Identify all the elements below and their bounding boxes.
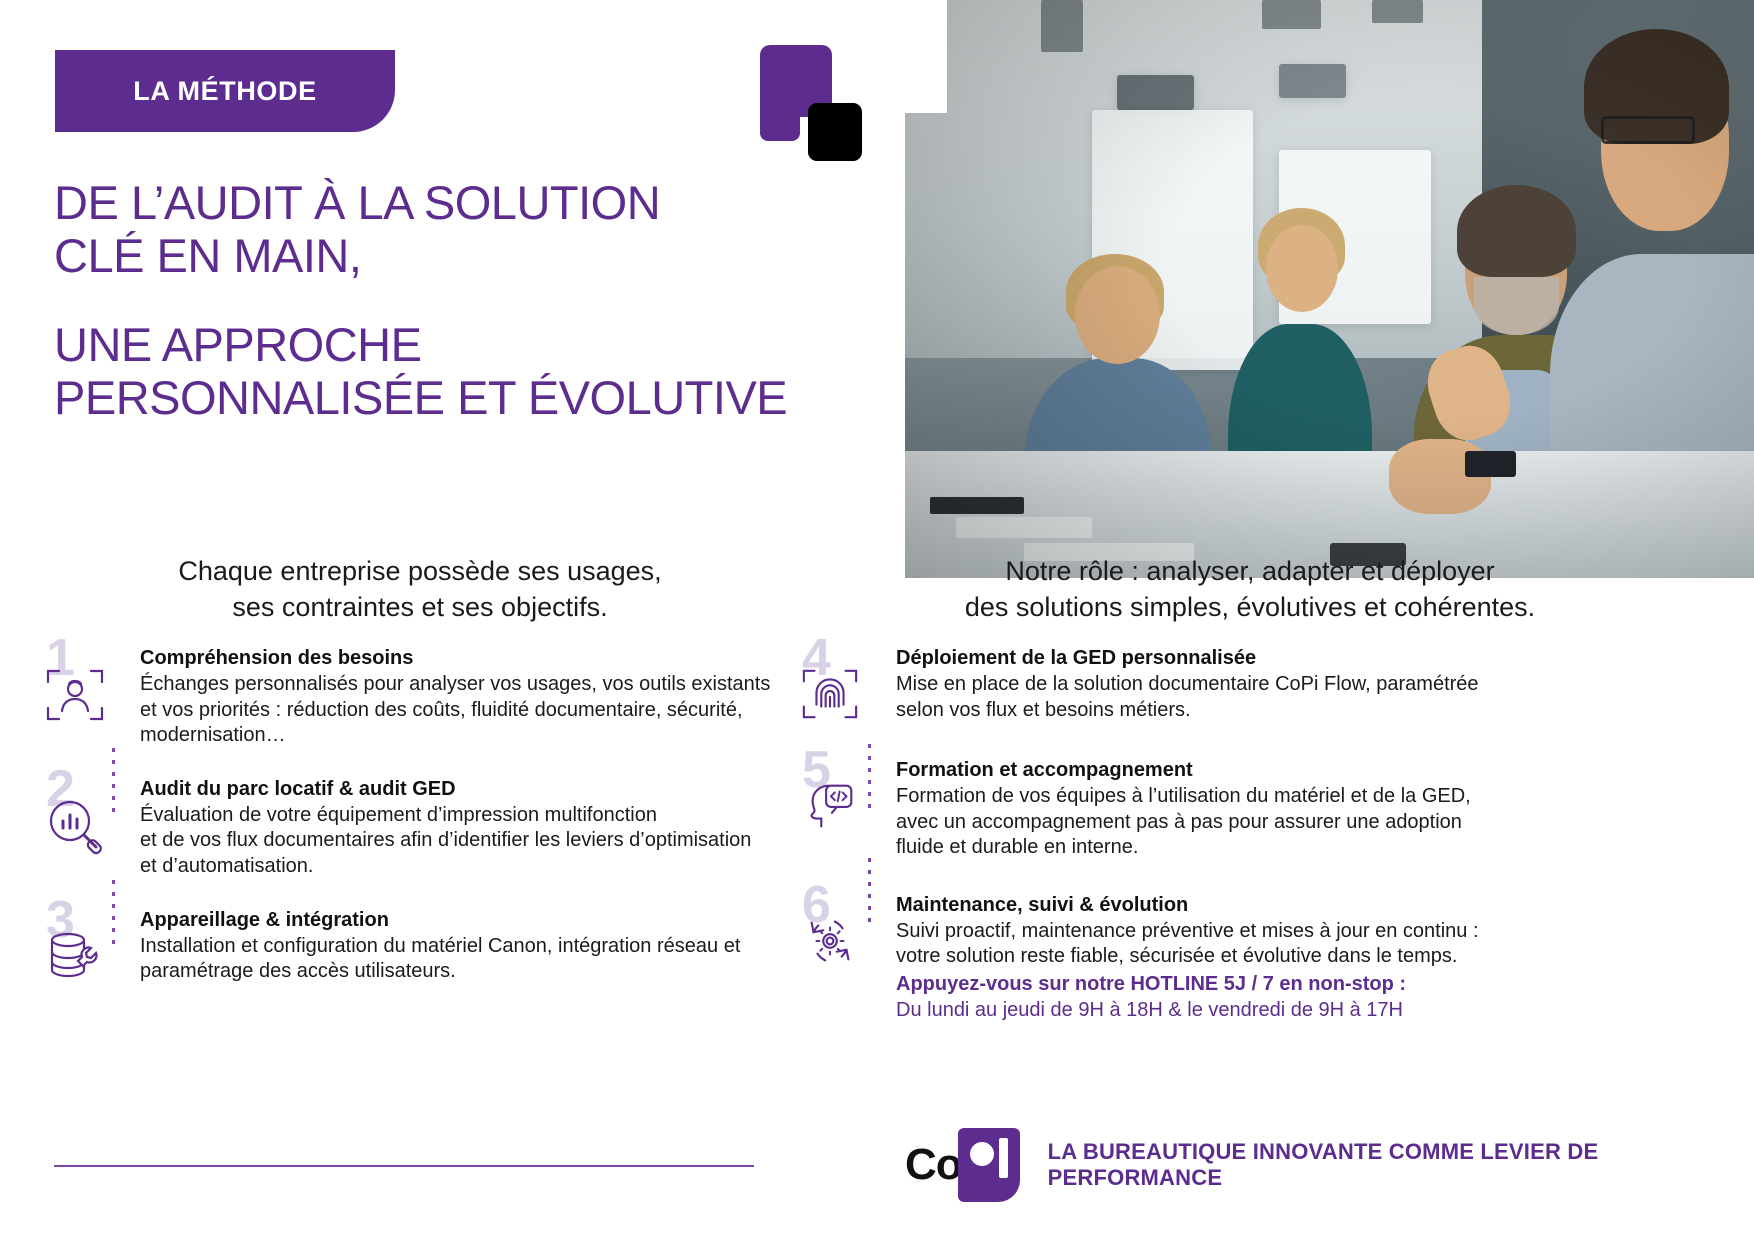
steps-column-left: 1 Compréhension des besoins Échanges per… <box>44 640 784 988</box>
head-code-bubble-icon <box>800 776 896 836</box>
step-body: Appareillage & intégration Installation … <box>140 902 740 985</box>
step-icon-wrap: 3 <box>44 902 140 988</box>
list-item: 5 Formation et accompagnement Formation … <box>800 752 1590 861</box>
intro-text-left: Chaque entreprise possède ses usages, se… <box>60 554 780 625</box>
decor-black-square <box>808 103 862 161</box>
list-item: 1 Compréhension des besoins Échanges per… <box>44 640 784 749</box>
page-root: LA MÉTHODE DE L’AUDIT À LA SOLUTION CLÉ … <box>0 0 1754 1241</box>
step-title: Déploiement de la GED personnalisée <box>896 646 1479 670</box>
list-item: 2 Audit du parc locatif & audit GED Éval… <box>44 771 784 880</box>
gear-cycle-icon <box>800 911 896 971</box>
step-icon-wrap: 5 <box>800 752 896 836</box>
step-description: Évaluation de votre équipement d’impress… <box>140 803 751 880</box>
step-icon-wrap: 4 <box>800 640 896 724</box>
footer: Co LA BUREAUTIQUE INNOVANTE COMME LEVIER… <box>905 1128 1754 1202</box>
hotline-callout: Appuyez-vous sur notre HOTLINE 5J / 7 en… <box>896 971 1479 997</box>
hotline-hours: Du lundi au jeudi de 9H à 18H & le vendr… <box>896 997 1479 1023</box>
logo-mark-pi <box>958 1128 1020 1202</box>
step-body: Maintenance, suivi & évolution Suivi pro… <box>896 887 1479 1023</box>
step-title: Maintenance, suivi & évolution <box>896 893 1479 917</box>
step-description: Installation et configuration du matérie… <box>140 934 740 985</box>
step-title: Appareillage & intégration <box>140 908 740 932</box>
database-wrench-icon <box>44 926 140 988</box>
badge-label: LA MÉTHODE <box>133 76 317 107</box>
step-title: Audit du parc locatif & audit GED <box>140 777 751 801</box>
list-item: 6 Maintenance, suivi & évolution Suivi p… <box>800 887 1590 1023</box>
page-title: DE L’AUDIT À LA SOLUTION CLÉ EN MAIN, UN… <box>54 176 794 424</box>
step-title: Compréhension des besoins <box>140 646 770 670</box>
chart-magnifier-icon <box>44 795 140 857</box>
fingerprint-scan-icon <box>800 664 896 724</box>
step-body: Déploiement de la GED personnalisée Mise… <box>896 640 1479 723</box>
step-body: Audit du parc locatif & audit GED Évalua… <box>140 771 751 880</box>
footer-divider <box>54 1165 754 1167</box>
copi-logo: Co <box>905 1128 1020 1202</box>
hero-photo-meeting <box>905 0 1754 578</box>
person-scan-icon <box>44 664 140 726</box>
step-description: Formation de vos équipes à l’utilisation… <box>896 784 1471 861</box>
list-item: 4 Déploiement de la GED personnali <box>800 640 1590 724</box>
step-icon-wrap: 6 <box>800 887 896 971</box>
step-icon-wrap: 1 <box>44 640 140 726</box>
photo-corner-notch <box>905 0 947 113</box>
step-icon-wrap: 2 <box>44 771 140 857</box>
step-description: Mise en place de la solution documentair… <box>896 672 1479 723</box>
step-body: Formation et accompagnement Formation de… <box>896 752 1471 861</box>
step-body: Compréhension des besoins Échanges perso… <box>140 640 770 749</box>
steps-column-right: 4 Déploiement de la GED personnali <box>800 640 1590 1023</box>
section-badge: LA MÉTHODE <box>55 50 395 132</box>
intro-text-right: Notre rôle : analyser, adapter et déploy… <box>810 554 1690 625</box>
headline-line-2: UNE APPROCHE PERSONNALISÉE ET ÉVOLUTIVE <box>54 318 794 424</box>
photo-vignette <box>905 0 1754 578</box>
list-item: 3 Appareillage & intégration Installatio… <box>44 902 784 988</box>
headline-line-1: DE L’AUDIT À LA SOLUTION CLÉ EN MAIN, <box>54 176 794 282</box>
step-title: Formation et accompagnement <box>896 758 1471 782</box>
step-description: Suivi proactif, maintenance préventive e… <box>896 919 1479 970</box>
step-description: Échanges personnalisés pour analyser vos… <box>140 672 770 749</box>
footer-tagline: LA BUREAUTIQUE INNOVANTE COMME LEVIER DE… <box>1048 1139 1754 1191</box>
logo-text-co: Co <box>905 1140 962 1190</box>
